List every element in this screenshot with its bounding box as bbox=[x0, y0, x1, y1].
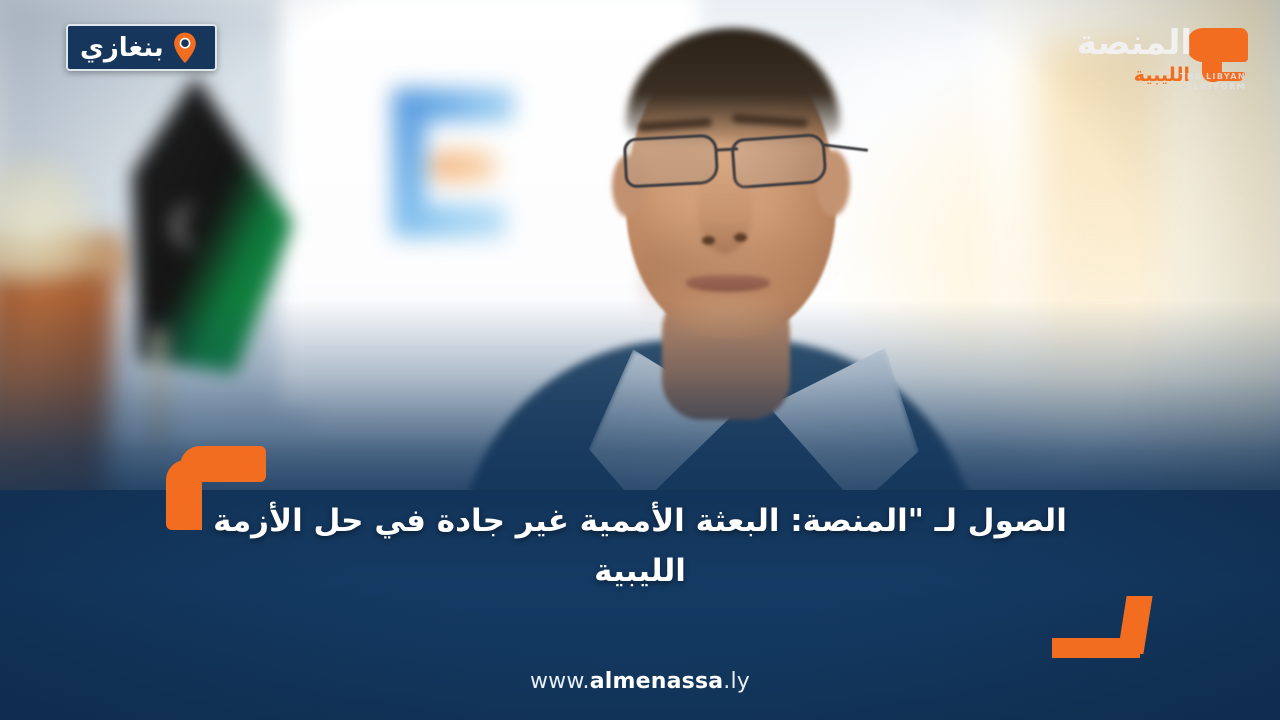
headline-line-1: الصول لـ "المنصة: البعثة الأممية غير جاد… bbox=[120, 496, 1160, 546]
brand-name-arabic: المنصة bbox=[1077, 26, 1192, 60]
map-pin-icon bbox=[173, 32, 197, 63]
mouth bbox=[686, 275, 770, 292]
brand-name-english: THE LIBYANPLATFORM bbox=[1180, 72, 1246, 92]
url-name: almenassa bbox=[590, 669, 724, 694]
bracket-bottom-right-icon bbox=[1052, 596, 1148, 658]
brand-logo[interactable]: المنصة الليبية THE LIBYANPLATFORM bbox=[1047, 22, 1252, 100]
location-badge[interactable]: بنغازي bbox=[66, 24, 217, 71]
nostril-right bbox=[734, 233, 747, 242]
nostril-left bbox=[702, 236, 715, 245]
location-badge-label: بنغازي bbox=[80, 35, 164, 61]
headline-line-2: الليبية bbox=[120, 546, 1160, 596]
url-prefix: www. bbox=[530, 669, 590, 694]
url-tld: .ly bbox=[723, 669, 750, 694]
headline: الصول لـ "المنصة: البعثة الأممية غير جاد… bbox=[120, 496, 1160, 596]
news-card: بنغازي المنصة الليبية THE LIBYANPLATFORM… bbox=[0, 0, 1280, 720]
site-url[interactable]: www.almenassa.ly bbox=[0, 669, 1280, 694]
